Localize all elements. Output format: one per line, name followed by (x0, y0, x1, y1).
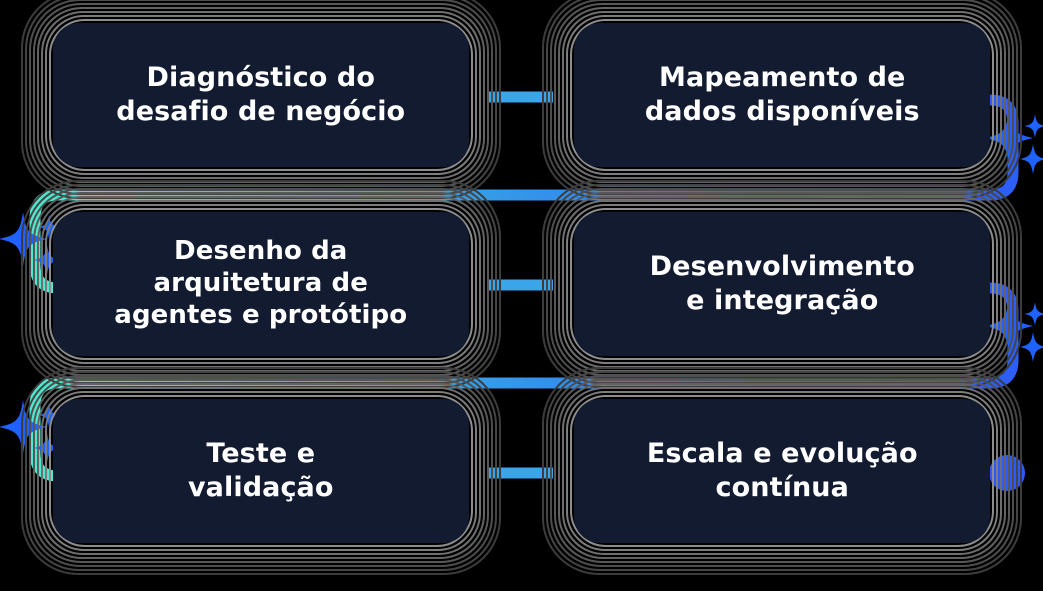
step-card-1-label: Diagnóstico do desafio de negócio (116, 61, 405, 129)
flow-cell-6: Escala e evolução contínua (522, 390, 1043, 552)
flow-cell-3: Desenho da arquitetura de agentes e prot… (0, 203, 522, 365)
step-card-3-label: Desenho da arquitetura de agentes e prot… (114, 236, 407, 331)
flow-row-1: Diagnóstico do desafio de negócio Mapeam… (0, 14, 1043, 176)
flow-cell-1: Diagnóstico do desafio de negócio (0, 14, 522, 176)
flow-cell-5: Teste e validação (0, 390, 522, 552)
step-card-6[interactable]: Escala e evolução contínua (574, 399, 990, 543)
step-card-6-label: Escala e evolução contínua (647, 437, 918, 505)
flow-row-3: Teste e validação Escala e evolução cont… (0, 390, 1043, 552)
step-card-2[interactable]: Mapeamento de dados disponíveis (574, 23, 990, 167)
step-card-5-label: Teste e validação (188, 437, 334, 505)
flow-row-2: Desenho da arquitetura de agentes e prot… (0, 203, 1043, 365)
step-card-4-label: Desenvolvimento e integração (650, 250, 915, 318)
step-card-4[interactable]: Desenvolvimento e integração (574, 212, 990, 356)
step-card-3[interactable]: Desenho da arquitetura de agentes e prot… (53, 212, 469, 356)
flow-diagram: Diagnóstico do desafio de negócio Mapeam… (0, 0, 1043, 591)
step-card-1[interactable]: Diagnóstico do desafio de negócio (53, 23, 469, 167)
step-card-5[interactable]: Teste e validação (53, 399, 469, 543)
step-card-2-label: Mapeamento de dados disponíveis (645, 61, 920, 129)
flow-cell-2: Mapeamento de dados disponíveis (522, 14, 1043, 176)
flow-cell-4: Desenvolvimento e integração (522, 203, 1043, 365)
